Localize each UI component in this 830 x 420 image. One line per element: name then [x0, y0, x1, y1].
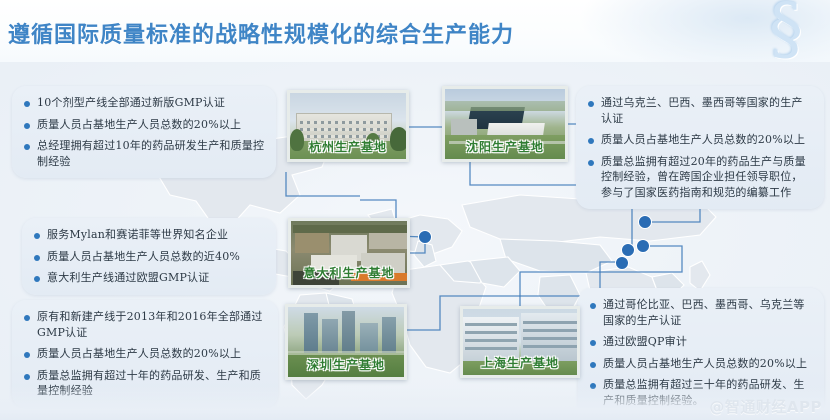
bullet-dot-icon [24, 144, 30, 150]
bullet-text: 质量人员占基地生产人员总数的20%以上 [603, 356, 807, 372]
bullet-text: 质量人员占基地生产人员总数的20%以上 [601, 132, 805, 148]
bullet-text: 意大利生产线通过欧盟GMP认证 [47, 270, 209, 286]
photo-shenzhen: 深圳生产基地 [285, 304, 407, 380]
bullet-dot-icon [24, 315, 30, 321]
brand-logo-icon: § [748, 0, 824, 70]
bullet-text: 通过哥伦比亚、巴西、墨西哥、乌克兰等国家的生产认证 [603, 297, 813, 328]
bullet-item: 通过哥伦比亚、巴西、墨西哥、乌克兰等国家的生产认证 [588, 297, 813, 328]
info-panel-shenyang: 通过乌克兰、巴西、墨西哥等国家的生产认证 质量人员占基地生产人员总数的20%以上… [576, 86, 824, 209]
page-title: 遵循国际质量标准的战略性规模化的综合生产能力 [8, 17, 514, 49]
photo-caption: 意大利生产基地 [291, 264, 407, 281]
bottom-gradient-fade [0, 386, 830, 420]
photo-shenyang: 沈阳生产基地 [442, 86, 568, 162]
bullet-text: 通过欧盟QP审计 [603, 334, 687, 350]
bullet-item: 总经理拥有超过10年的药品研发生产和质量控制经验 [22, 138, 265, 169]
bullet-dot-icon [34, 233, 40, 239]
bullet-item: 质量人员占基地生产人员总数的20%以上 [22, 346, 267, 362]
bullet-text: 通过乌克兰、巴西、墨西哥等国家的生产认证 [601, 95, 813, 126]
photo-caption: 深圳生产基地 [288, 356, 404, 373]
slide-canvas: 遵循国际质量标准的战略性规模化的综合生产能力 § 10个剂型产线全部通过新版GM… [0, 0, 830, 420]
watermark: @智通财经APP [709, 396, 822, 417]
bullet-item: 质量人员占基地生产人员总数的近40% [32, 249, 265, 265]
bullet-text: 10个剂型产线全部通过新版GMP认证 [37, 95, 225, 111]
bullet-item: 意大利生产线通过欧盟GMP认证 [32, 270, 265, 286]
photo-shanghai: 上海生产基地 [460, 306, 580, 378]
photo-caption: 上海生产基地 [463, 354, 577, 371]
bullet-text: 质量人员占基地生产人员总数的20%以上 [37, 117, 241, 133]
photo-caption: 沈阳生产基地 [445, 138, 565, 155]
bullet-item: 质量人员占基地生产人员总数的20%以上 [586, 132, 813, 148]
bullet-dot-icon [24, 374, 30, 380]
bullet-text: 服务Mylan和赛诺菲等世界知名企业 [47, 227, 228, 243]
bullet-item: 服务Mylan和赛诺菲等世界知名企业 [32, 227, 265, 243]
bullet-text: 质量人员占基地生产人员总数的近40% [47, 249, 240, 265]
bullet-dot-icon [590, 340, 596, 346]
info-panel-hangzhou: 10个剂型产线全部通过新版GMP认证 质量人员占基地生产人员总数的20%以上 总… [12, 86, 276, 178]
slide-header: 遵循国际质量标准的战略性规模化的综合生产能力 § [0, 0, 830, 62]
bullet-dot-icon [588, 138, 594, 144]
bullet-item: 通过欧盟QP审计 [588, 334, 813, 350]
bullet-item: 原有和新建产线于2013年和2016年全部通过GMP认证 [22, 309, 267, 340]
bullet-dot-icon [588, 160, 594, 166]
bullet-dot-icon [34, 276, 40, 282]
photo-hangzhou: 杭州生产基地 [287, 90, 409, 162]
bullet-item: 质量人员占基地生产人员总数的20%以上 [22, 117, 265, 133]
bullet-dot-icon [34, 255, 40, 261]
photo-italy: 意大利生产基地 [288, 218, 410, 288]
info-panel-italy: 服务Mylan和赛诺菲等世界知名企业 质量人员占基地生产人员总数的近40% 意大… [22, 218, 276, 295]
bullet-text: 质量总监拥有超过20年的药品生产与质量控制经验，曾在跨国企业担任领导职位，参与了… [601, 154, 813, 201]
bullet-item: 质量人员占基地生产人员总数的20%以上 [588, 356, 813, 372]
bullet-dot-icon [24, 123, 30, 129]
bullet-dot-icon [590, 362, 596, 368]
bullet-dot-icon [588, 101, 594, 107]
bullet-text: 原有和新建产线于2013年和2016年全部通过GMP认证 [37, 309, 267, 340]
bullet-text: 质量人员占基地生产人员总数的20%以上 [37, 346, 241, 362]
bullet-dot-icon [590, 303, 596, 309]
bullet-item: 通过乌克兰、巴西、墨西哥等国家的生产认证 [586, 95, 813, 126]
bullet-item: 质量总监拥有超过20年的药品生产与质量控制经验，曾在跨国企业担任领导职位，参与了… [586, 154, 813, 201]
bullet-dot-icon [24, 352, 30, 358]
photo-caption: 杭州生产基地 [290, 138, 406, 155]
bullet-item: 10个剂型产线全部通过新版GMP认证 [22, 95, 265, 111]
bullet-text: 总经理拥有超过10年的药品研发生产和质量控制经验 [37, 138, 265, 169]
bullet-dot-icon [24, 101, 30, 107]
